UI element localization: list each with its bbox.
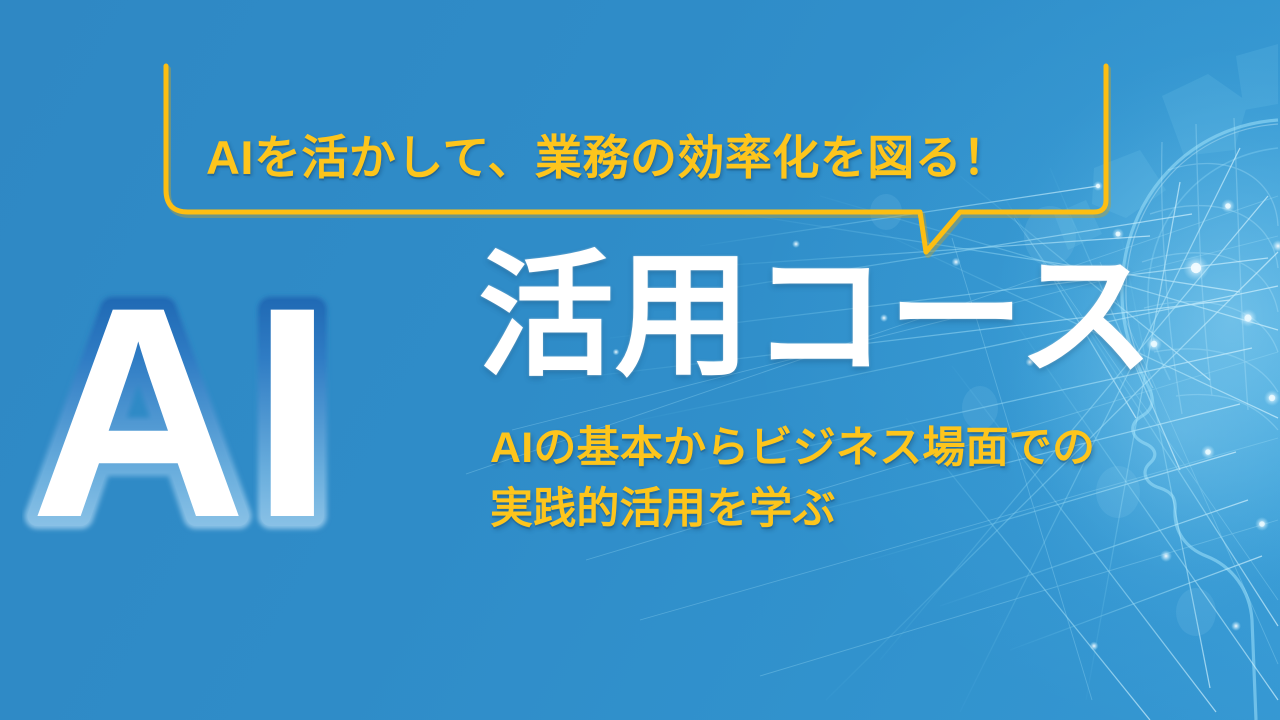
- ai-course-banner: AIを活かして、業務の効率化を図る！ AI AI AI: [0, 0, 1280, 720]
- ai-wordmark: AI AI AI: [22, 232, 482, 562]
- subtitle-line-2: 実践的活用を学ぶ: [490, 479, 1095, 540]
- page-title: 活用コース: [478, 246, 1155, 387]
- subtitle-line-1: AIの基本からビジネス場面での: [490, 418, 1095, 479]
- bubble-headline-text: AIを活かして、業務の効率化を図る！: [206, 119, 1086, 188]
- subtitle: AIの基本からビジネス場面での 実践的活用を学ぶ: [490, 418, 1095, 540]
- svg-text:AI: AI: [30, 244, 338, 562]
